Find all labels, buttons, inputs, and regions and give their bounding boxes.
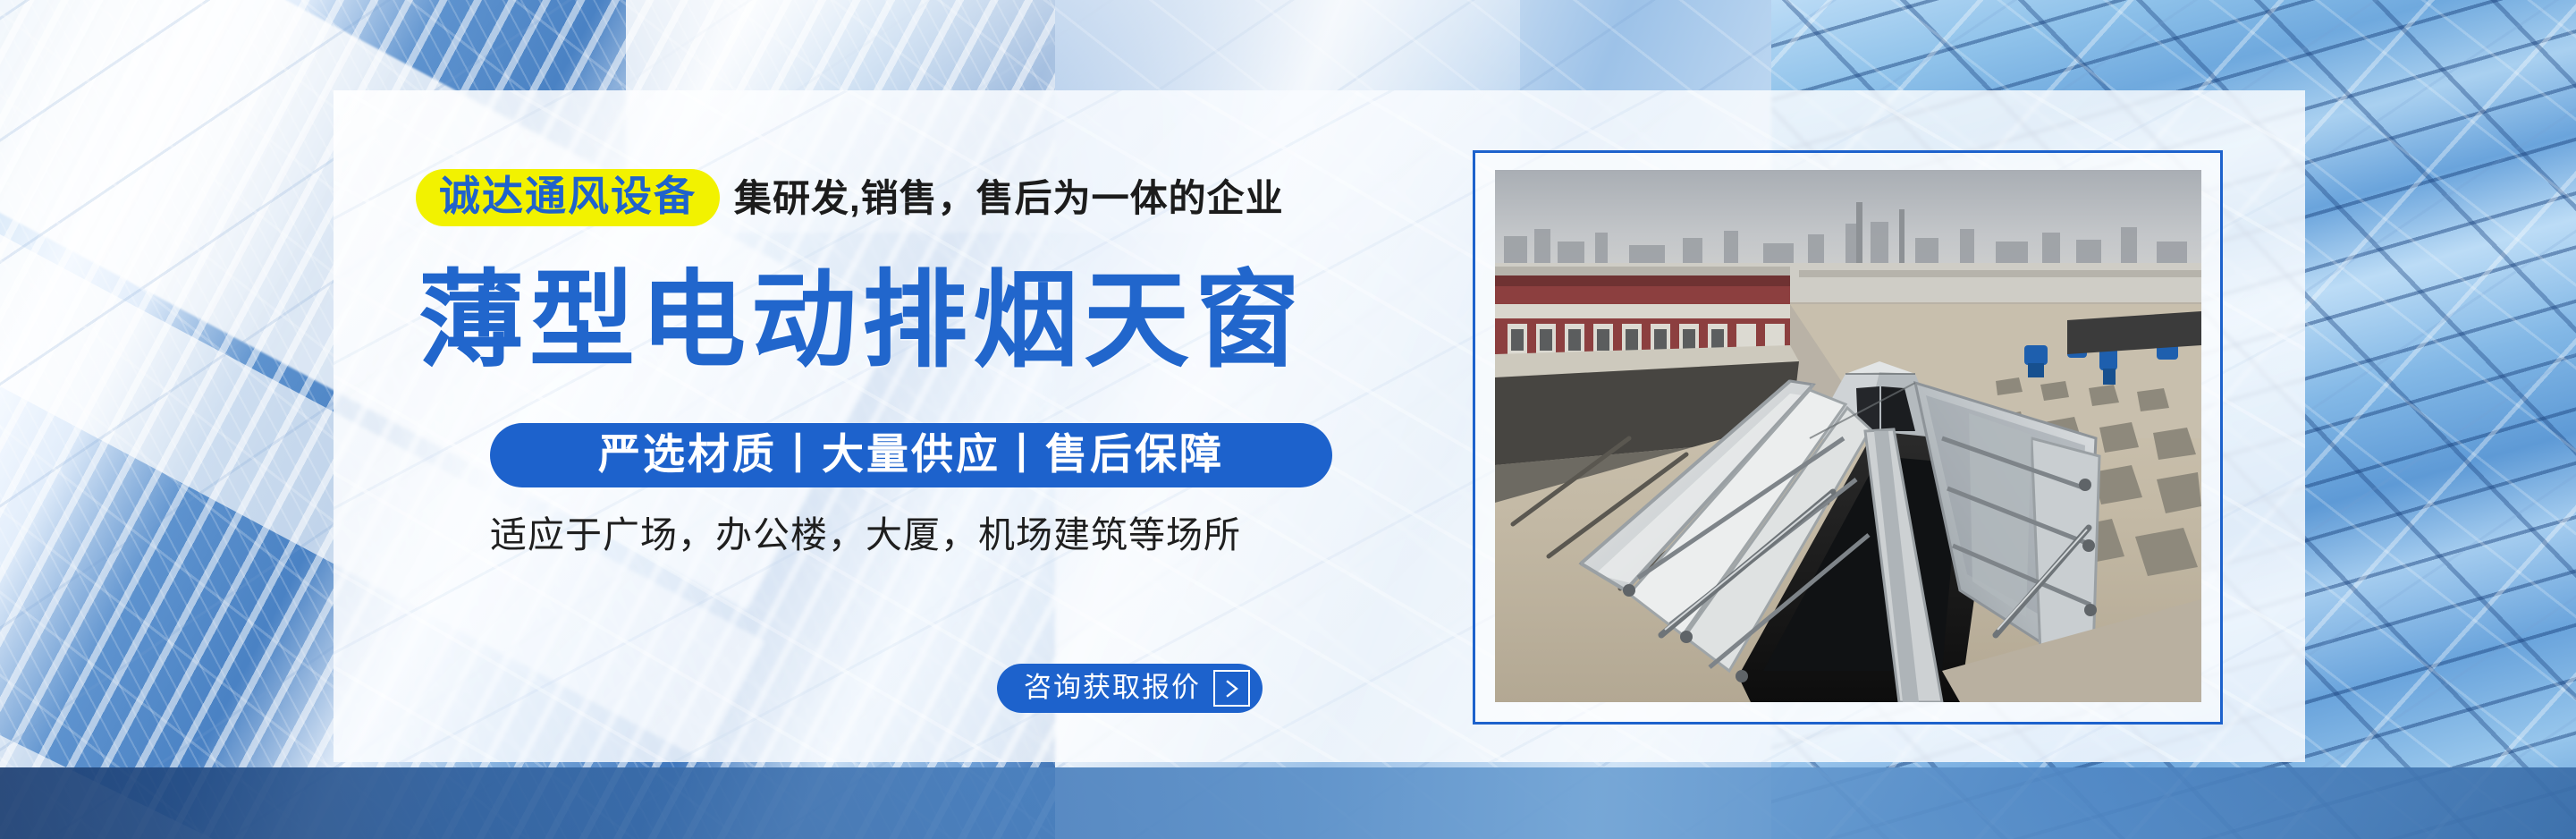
chevron-right-icon <box>1213 670 1250 707</box>
page-title: 薄型电动排烟天窗 <box>418 268 1305 374</box>
eyebrow-tagline: 集研发,销售，售后为一体的企业 <box>734 168 1284 226</box>
brand-badge: 诚达通风设备 <box>416 169 720 226</box>
features-pill: 严选材质丨大量供应丨售后保障 <box>490 423 1332 487</box>
eyebrow-row: 诚达通风设备 集研发,销售，售后为一体的企业 <box>416 168 1284 226</box>
features-label: 严选材质丨大量供应丨售后保障 <box>598 433 1224 478</box>
scope-label: 适应于广场，办公楼，大厦，机场建筑等场所 <box>490 517 1241 554</box>
quote-cta-button[interactable]: 咨询获取报价 <box>997 664 1263 713</box>
promo-banner: 诚达通风设备 集研发,销售，售后为一体的企业 薄型电动排烟天窗 严选材质丨大量供… <box>0 0 2576 839</box>
product-photo <box>1495 170 2201 702</box>
background-bottom-band <box>0 767 2576 839</box>
quote-cta-label: 咨询获取报价 <box>1024 674 1201 703</box>
